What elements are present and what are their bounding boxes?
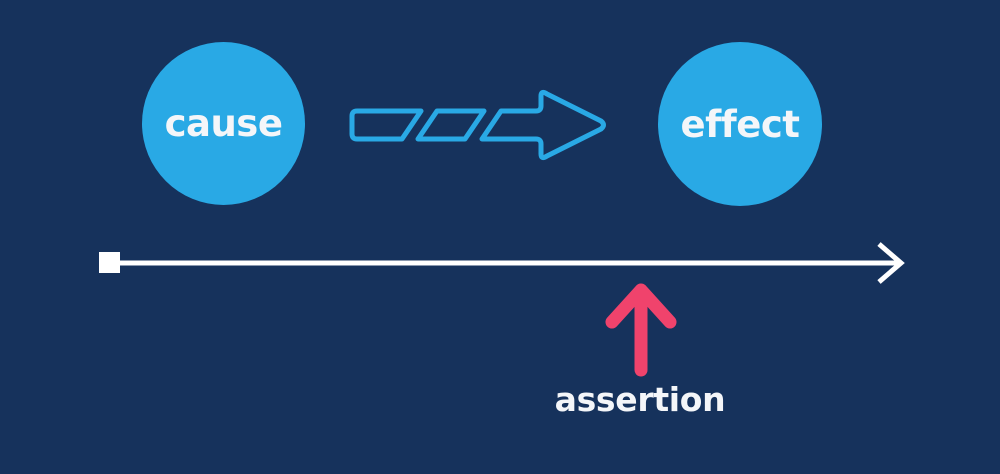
motion-arrow-icon <box>344 84 624 166</box>
node-effect[interactable]: effect <box>658 42 822 206</box>
assertion-label: assertion <box>440 383 840 416</box>
node-cause[interactable]: cause <box>142 42 305 205</box>
node-cause-label: cause <box>165 105 283 142</box>
node-effect-label: effect <box>680 106 799 143</box>
timeline-arrow-icon[interactable] <box>90 238 920 290</box>
assertion-up-arrow-icon[interactable] <box>598 278 684 378</box>
diagram-canvas: cause effect assertion <box>0 0 1000 474</box>
